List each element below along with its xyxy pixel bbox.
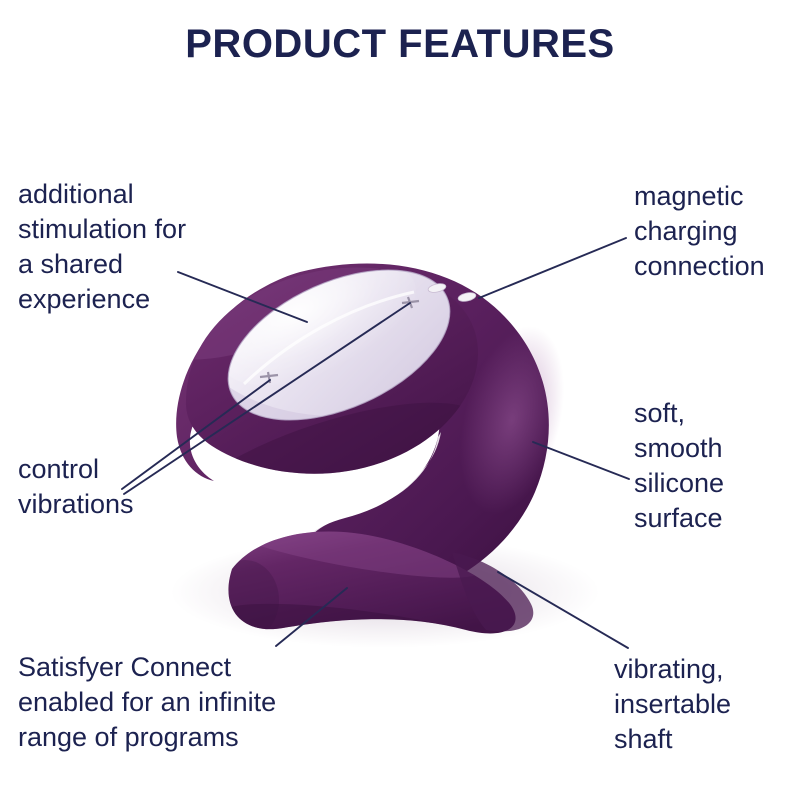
label-control-vibrations: control vibrations [18,452,233,522]
shaft-tip-shade [211,560,279,640]
charging-contact-upper-icon [427,282,446,294]
leader-vibrating-shaft [498,572,628,648]
product-ground-shadow [170,536,600,648]
leader-soft-smooth [533,442,629,479]
leader-magnetic-charging [479,238,626,298]
label-magnetic-charging: magnetic charging connection [634,179,800,284]
control-button-minus-icon[interactable] [260,372,278,383]
label-satisfyer-connect: Satisfyer Connect enabled for an infinit… [18,650,348,755]
label-additional-stimulation: additional stimulation for a shared expe… [18,177,253,317]
label-soft-smooth-silicone: soft, smooth silicone surface [634,396,799,536]
charging-contact-lower-icon [457,291,476,303]
product-features-infographic: PRODUCT FEATURES [0,0,800,800]
shaft-joint [452,552,533,631]
control-panel-seam [244,292,414,384]
control-button-plus-icon[interactable] [402,297,419,308]
magnetic-charging-contacts [427,282,476,303]
inner-gap-shadow [303,432,441,553]
shaft-top-highlight [221,509,483,590]
page-title: PRODUCT FEATURES [0,22,800,67]
label-vibrating-insertable-shaft: vibrating, insertable shaft [614,652,800,757]
insertable-shaft [228,531,515,633]
right-lobe-highlight [442,315,582,525]
leader-satisfyer-connect [276,588,347,646]
control-panel-edge-shade [200,372,452,420]
